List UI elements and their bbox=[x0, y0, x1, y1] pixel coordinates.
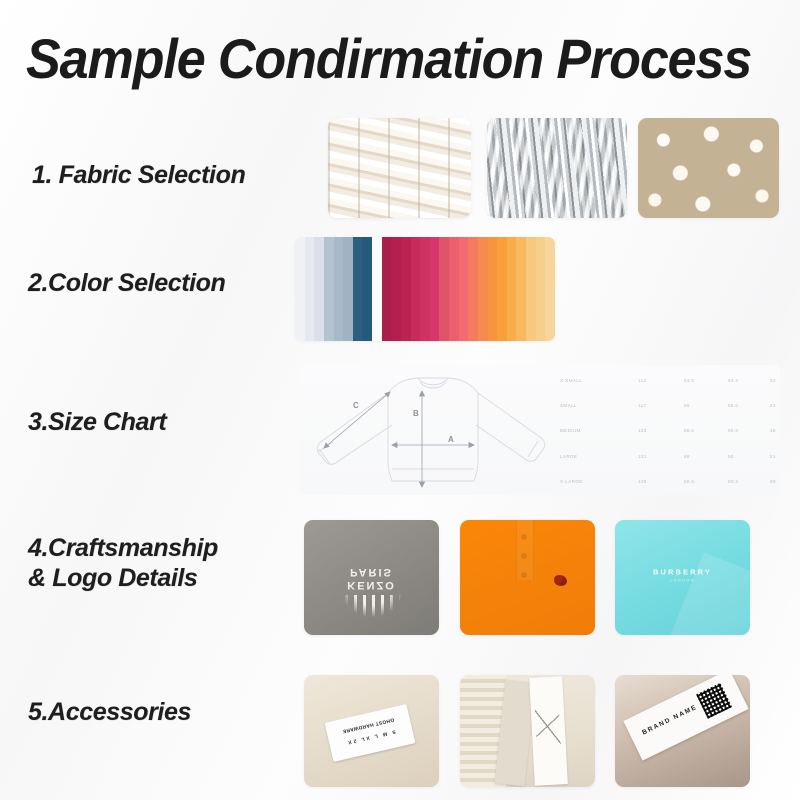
color-swatch-21[interactable] bbox=[497, 237, 507, 341]
measurement-label-c: C bbox=[353, 401, 359, 410]
color-swatch-0[interactable] bbox=[295, 237, 305, 341]
polo-button-2 bbox=[521, 553, 527, 559]
size-table-cell-value: 60 bbox=[770, 479, 792, 484]
size-table-row: X-SMALL11263.554.441 bbox=[560, 378, 792, 383]
step-label-accessories: 5.Accessories bbox=[28, 697, 191, 727]
color-swatch-17[interactable] bbox=[459, 237, 469, 341]
fabric-swatch-cream-cable-knit[interactable] bbox=[328, 118, 471, 218]
color-swatch-18[interactable] bbox=[468, 237, 478, 341]
polo-button-3 bbox=[521, 572, 527, 578]
color-swatch-20[interactable] bbox=[488, 237, 498, 341]
polo-button-1 bbox=[521, 534, 527, 540]
size-table-row: X-LARGE13969.560.260 bbox=[560, 479, 792, 484]
step-label-craftsmanship-logo-details: 4.Craftsmanship & Logo Details bbox=[28, 533, 218, 593]
size-table-cell-value: 46 bbox=[770, 428, 792, 433]
size-table-cell-value: 69.5 bbox=[684, 479, 728, 484]
brand-name-hang-tag: BRAND NAME bbox=[623, 675, 748, 761]
measurement-label-b: B bbox=[413, 409, 419, 418]
size-table-cell-size: X-LARGE bbox=[560, 479, 638, 484]
fabric-fold-shadow bbox=[663, 552, 750, 635]
color-swatch-4[interactable] bbox=[334, 237, 344, 341]
color-swatch-2[interactable] bbox=[314, 237, 324, 341]
polo-placket bbox=[516, 520, 534, 580]
color-swatch-7[interactable] bbox=[362, 237, 372, 341]
care-label-tag: GHOST HARDWARE S M L XL 2X bbox=[325, 704, 416, 762]
color-swatch-22[interactable] bbox=[507, 237, 517, 341]
knit-braid-texture bbox=[328, 118, 471, 218]
size-table-cell-value: 58 bbox=[728, 454, 770, 459]
step-label-fabric-selection: 1. Fabric Selection bbox=[32, 160, 245, 190]
color-swatch-8[interactable] bbox=[372, 237, 382, 341]
size-table-cell-size: X-SMALL bbox=[560, 378, 638, 383]
size-table-row: SMALL1176555.643 bbox=[560, 403, 792, 408]
burberry-logo-line1: BURBERRY bbox=[653, 568, 712, 577]
sample-confirmation-process-page: Sample Condirmation Process 1. Fabric Se… bbox=[0, 0, 800, 800]
color-swatch-14[interactable] bbox=[430, 237, 440, 341]
polo-embroidery-emblem bbox=[554, 575, 567, 586]
color-swatch-6[interactable] bbox=[353, 237, 363, 341]
color-swatch-5[interactable] bbox=[343, 237, 353, 341]
craft-image-orange-polo[interactable] bbox=[460, 520, 595, 635]
accessory-image-care-label[interactable]: GHOST HARDWARE S M L XL 2X bbox=[304, 675, 439, 787]
size-chart-table: X-SMALL11263.554.441SMALL1176555.643MEDI… bbox=[560, 368, 792, 494]
color-swatch-19[interactable] bbox=[478, 237, 488, 341]
hang-tag-white bbox=[529, 676, 568, 786]
size-table-cell-value: 131 bbox=[638, 454, 684, 459]
color-swatch-15[interactable] bbox=[439, 237, 449, 341]
color-palette-strip[interactable] bbox=[295, 237, 555, 341]
size-table-cell-value: 54.4 bbox=[728, 378, 770, 383]
hang-tag-signature-mark bbox=[535, 704, 561, 745]
size-table-cell-value: 139 bbox=[638, 479, 684, 484]
size-table-cell-value: 43 bbox=[770, 403, 792, 408]
color-swatch-11[interactable] bbox=[401, 237, 411, 341]
kenzo-ray-graphic bbox=[342, 595, 402, 617]
size-table-row: MEDIUM12366.556.846 bbox=[560, 428, 792, 433]
size-table-cell-value: 51 bbox=[770, 454, 792, 459]
craft-image-kenzo-paris[interactable]: KENZO PARIS bbox=[304, 520, 439, 635]
fabric-swatch-beige-boucle[interactable] bbox=[638, 118, 779, 218]
size-table-cell-value: 112 bbox=[638, 378, 684, 383]
color-swatch-13[interactable] bbox=[420, 237, 430, 341]
craftsmanship-label-line2: & Logo Details bbox=[28, 563, 218, 593]
kenzo-logo-line2: PARIS bbox=[347, 565, 396, 578]
step-label-color-selection: 2.Color Selection bbox=[28, 268, 225, 298]
accessory-image-hang-tags[interactable] bbox=[460, 675, 595, 787]
color-swatch-23[interactable] bbox=[516, 237, 526, 341]
color-swatch-26[interactable] bbox=[545, 237, 555, 341]
measurement-label-a: A bbox=[448, 435, 454, 444]
size-table-cell-value: 68 bbox=[684, 454, 728, 459]
color-swatch-16[interactable] bbox=[449, 237, 459, 341]
size-table-row: LARGE131685851 bbox=[560, 454, 792, 459]
color-swatch-12[interactable] bbox=[411, 237, 421, 341]
craftsmanship-label-line1: 4.Craftsmanship bbox=[28, 533, 218, 563]
burberry-logo-line2: LONDON bbox=[653, 579, 712, 583]
color-swatch-24[interactable] bbox=[526, 237, 536, 341]
step-label-size-chart: 3.Size Chart bbox=[28, 407, 166, 437]
size-table-cell-size: MEDIUM bbox=[560, 428, 638, 433]
brand-name-text: BRAND NAME bbox=[641, 704, 698, 737]
burberry-logo-text: BURBERRY LONDON bbox=[653, 568, 712, 583]
size-table-cell-value: 66.5 bbox=[684, 428, 728, 433]
color-swatch-10[interactable] bbox=[391, 237, 401, 341]
size-table-cell-size: LARGE bbox=[560, 454, 638, 459]
size-table-cell-value: 117 bbox=[638, 403, 684, 408]
size-table-cell-value: 41 bbox=[770, 378, 792, 383]
craft-image-burberry-london[interactable]: BURBERRY LONDON bbox=[615, 520, 750, 635]
qr-code bbox=[696, 683, 732, 719]
fabric-swatch-grey-wavy[interactable] bbox=[487, 118, 627, 218]
size-table-cell-value: 55.6 bbox=[728, 403, 770, 408]
wavy-fabric-texture bbox=[487, 118, 627, 218]
color-swatch-1[interactable] bbox=[305, 237, 315, 341]
size-table-cell-value: 63.5 bbox=[684, 378, 728, 383]
kenzo-paris-logo-text: KENZO PARIS bbox=[347, 565, 396, 591]
sweatshirt-technical-drawing: A B C bbox=[300, 365, 565, 495]
size-table-cell-value: 65 bbox=[684, 403, 728, 408]
color-swatch-9[interactable] bbox=[382, 237, 392, 341]
size-table-cell-value: 123 bbox=[638, 428, 684, 433]
color-swatch-3[interactable] bbox=[324, 237, 334, 341]
page-title: Sample Condirmation Process bbox=[26, 30, 733, 88]
accessory-image-brand-name-tag[interactable]: BRAND NAME bbox=[615, 675, 750, 787]
size-table-cell-value: 56.8 bbox=[728, 428, 770, 433]
color-swatch-25[interactable] bbox=[536, 237, 546, 341]
kenzo-logo-line1: KENZO bbox=[347, 578, 396, 591]
size-table-cell-size: SMALL bbox=[560, 403, 638, 408]
size-table-cell-value: 60.2 bbox=[728, 479, 770, 484]
